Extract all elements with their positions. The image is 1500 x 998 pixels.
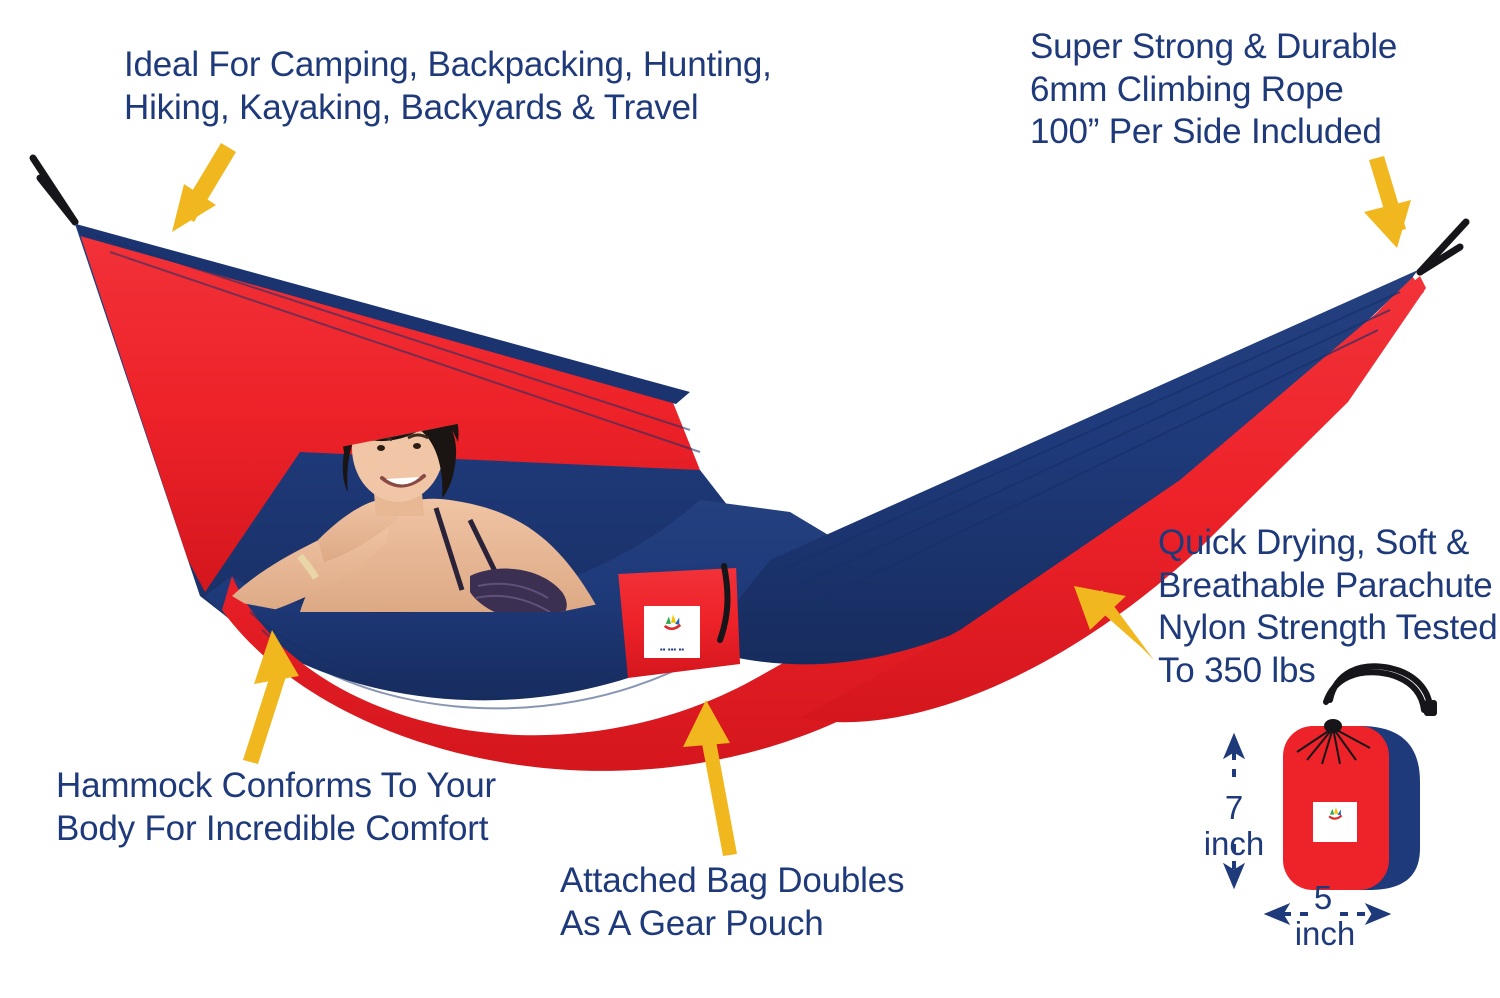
callout-text-nylon: Quick Drying, Soft & Breathable Parachut…	[1158, 522, 1498, 693]
stuff-sack-height-value: 7	[1196, 790, 1272, 826]
arrow-rope	[1364, 156, 1411, 248]
stuff-sack-width-unit: inch	[1277, 916, 1373, 952]
stuff-sack-logo-patch	[1313, 802, 1357, 842]
callout-text-conform: Hammock Conforms To Your Body For Incred…	[56, 765, 496, 850]
svg-text:▪▪ ▪▪▪ ▪▪: ▪▪ ▪▪▪ ▪▪	[660, 645, 684, 654]
callout-text-rope: Super Strong & Durable 6mm Climbing Rope…	[1030, 26, 1397, 154]
arrow-camping	[172, 143, 236, 232]
rope-left	[33, 158, 75, 222]
rope-right	[1420, 222, 1466, 272]
callout-text-camping: Ideal For Camping, Backpacking, Hunting,…	[124, 44, 772, 129]
product-infographic: ▪▪ ▪▪▪ ▪▪	[0, 0, 1500, 998]
callout-text-pouch: Attached Bag Doubles As A Gear Pouch	[560, 860, 904, 945]
stuff-sack	[1283, 666, 1437, 890]
stuff-sack-height-unit: inch	[1196, 826, 1272, 862]
stuff-sack-height-label: 7 inch	[1196, 790, 1272, 863]
attached-gear-pouch: ▪▪ ▪▪▪ ▪▪	[618, 565, 740, 678]
stuff-sack-width-value: 5	[1300, 880, 1346, 916]
